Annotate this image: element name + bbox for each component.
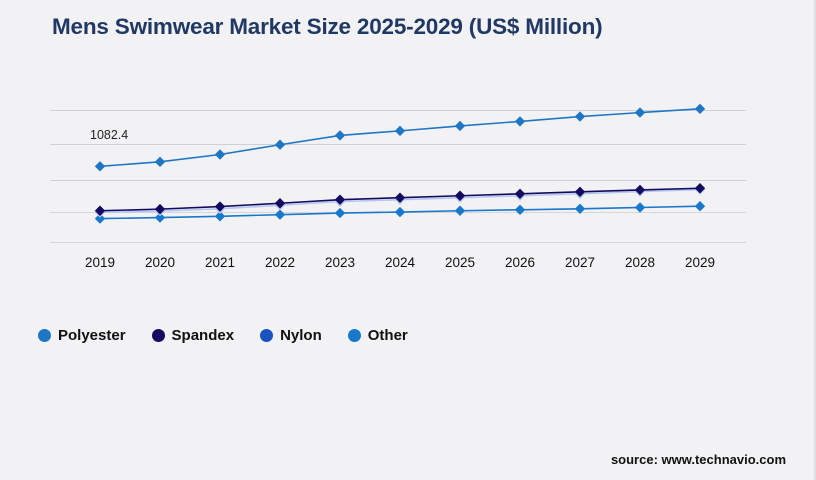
x-axis-tick-2029: 2029 [685,255,715,270]
page-title: Mens Swimwear Market Size 2025-2029 (US$… [52,14,602,40]
x-axis-tick-2027: 2027 [565,255,595,270]
data-point [215,149,225,159]
data-point [455,206,465,216]
x-axis-tick-2019: 2019 [85,255,115,270]
data-point [455,121,465,131]
plot-area [50,95,746,245]
data-point [515,205,525,215]
legend-item-spandex[interactable]: Spandex [152,327,235,344]
x-axis-tick-2021: 2021 [205,255,235,270]
data-point [395,126,405,136]
x-axis-tick-2025: 2025 [445,255,475,270]
data-point [635,107,645,117]
data-point [95,206,105,216]
data-point [275,140,285,150]
data-point [275,198,285,208]
chart-root: Mens Swimwear Market Size 2025-2029 (US$… [0,0,814,480]
data-point [335,130,345,140]
legend-swatch-icon [260,329,273,342]
data-point [515,189,525,199]
data-point [95,161,105,171]
data-point [695,183,705,193]
legend-label: Spandex [172,327,235,344]
x-axis-tick-2022: 2022 [265,255,295,270]
legend-item-polyester[interactable]: Polyester [38,327,126,344]
legend-label: Nylon [280,327,322,344]
data-point [395,193,405,203]
legend-item-nylon[interactable]: Nylon [260,327,322,344]
data-point [515,116,525,126]
data-point [635,202,645,212]
x-axis-tick-2026: 2026 [505,255,535,270]
data-point [575,111,585,121]
data-point [335,208,345,218]
chart-legend: PolyesterSpandexNylonOther [38,324,434,346]
legend-swatch-icon [152,329,165,342]
data-point [155,204,165,214]
legend-swatch-icon [348,329,361,342]
data-point [695,104,705,114]
data-point [575,204,585,214]
data-point [155,157,165,167]
legend-label: Other [368,327,408,344]
x-axis-tick-2023: 2023 [325,255,355,270]
x-axis-tick-2024: 2024 [385,255,415,270]
legend-swatch-icon [38,329,51,342]
x-axis-labels: 2019202020212022202320242025202620272028… [50,255,746,277]
data-point [695,201,705,211]
source-caption: source: www.technavio.com [611,452,786,467]
legend-label: Polyester [58,327,126,344]
data-label-polyester-2019: 1082.4 [90,128,128,142]
data-point [335,194,345,204]
x-axis-tick-2020: 2020 [145,255,175,270]
data-point [395,207,405,217]
series-layer [50,95,746,245]
data-point [635,185,645,195]
series-polyester [95,104,705,172]
data-point [275,209,285,219]
series-line [100,109,700,166]
data-point [455,191,465,201]
x-axis-tick-2028: 2028 [625,255,655,270]
legend-item-other[interactable]: Other [348,327,408,344]
data-point [575,187,585,197]
